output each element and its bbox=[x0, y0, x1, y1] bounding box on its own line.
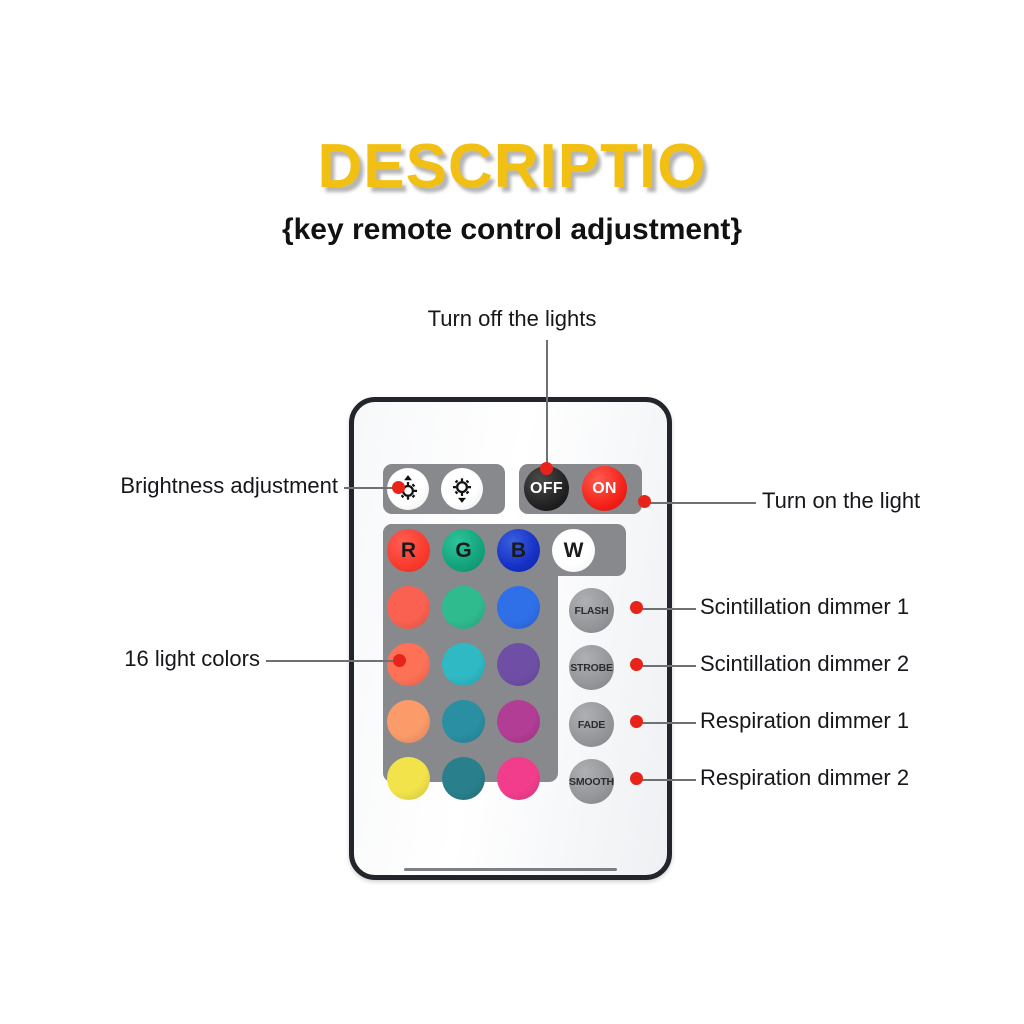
callout-respiration-dimmer-2: Respiration dimmer 2 bbox=[700, 765, 909, 791]
leader-line-brightness bbox=[344, 487, 399, 489]
callout-respiration-dimmer-1: Respiration dimmer 1 bbox=[700, 708, 909, 734]
color-swatch-r3-c2[interactable] bbox=[442, 700, 485, 743]
callout-brightness-adjustment: Brightness adjustment bbox=[0, 473, 338, 499]
callout-turn-off-lights: Turn off the lights bbox=[362, 306, 662, 332]
page-subtitle: {key remote control adjustment} bbox=[0, 213, 1024, 247]
blue-button-label: B bbox=[511, 540, 526, 561]
leader-line-colors bbox=[266, 660, 400, 662]
callout-dot-brightness bbox=[392, 481, 405, 494]
remote-bottom-seam bbox=[404, 868, 617, 871]
white-button[interactable]: W bbox=[552, 529, 595, 572]
smooth-button[interactable]: SMOOTH bbox=[569, 759, 614, 804]
green-button[interactable]: G bbox=[442, 529, 485, 572]
color-swatch-r3-c1[interactable] bbox=[387, 700, 430, 743]
callout-dot-strobe bbox=[630, 658, 643, 671]
infographic-canvas: DESCRIPTIO {key remote control adjustmen… bbox=[0, 0, 1024, 1024]
flash-button-label: FLASH bbox=[575, 605, 609, 617]
off-button-label: OFF bbox=[530, 481, 563, 497]
color-swatch-r4-c1[interactable] bbox=[387, 757, 430, 800]
color-swatch-r2-c3[interactable] bbox=[497, 643, 540, 686]
flash-button[interactable]: FLASH bbox=[569, 588, 614, 633]
sun-down-icon bbox=[447, 474, 477, 504]
color-swatch-r3-c3[interactable] bbox=[497, 700, 540, 743]
on-button[interactable]: ON bbox=[582, 466, 627, 511]
leader-line-strobe bbox=[640, 665, 696, 667]
red-button[interactable]: R bbox=[387, 529, 430, 572]
green-button-label: G bbox=[455, 540, 471, 561]
remote-control: OFF ON R G B W FLASH STROBE FADE bbox=[349, 397, 672, 880]
red-button-label: R bbox=[401, 540, 416, 561]
callout-scintillation-dimmer-2: Scintillation dimmer 2 bbox=[700, 651, 909, 677]
leader-line-fade bbox=[640, 722, 696, 724]
leader-line-smooth bbox=[640, 779, 696, 781]
callout-dot-16-colors bbox=[393, 654, 406, 667]
color-swatch-r2-c2[interactable] bbox=[442, 643, 485, 686]
callout-dot-fade bbox=[630, 715, 643, 728]
callout-dot-turn-off bbox=[540, 462, 553, 475]
callout-dot-turn-on bbox=[638, 495, 651, 508]
strobe-button-label: STROBE bbox=[570, 662, 613, 674]
color-swatch-r4-c2[interactable] bbox=[442, 757, 485, 800]
color-swatch-r1-c2[interactable] bbox=[442, 586, 485, 629]
leader-line-turn-on bbox=[648, 502, 756, 504]
page-title: DESCRIPTIO bbox=[0, 131, 1024, 202]
color-swatch-r1-c3[interactable] bbox=[497, 586, 540, 629]
color-swatch-r4-c3[interactable] bbox=[497, 757, 540, 800]
color-swatch-r1-c1[interactable] bbox=[387, 586, 430, 629]
callout-dot-flash bbox=[630, 601, 643, 614]
leader-line-turn-off bbox=[546, 340, 548, 468]
callout-turn-on-light: Turn on the light bbox=[762, 488, 920, 514]
white-button-label: W bbox=[564, 540, 584, 561]
callout-scintillation-dimmer-1: Scintillation dimmer 1 bbox=[700, 594, 909, 620]
strobe-button[interactable]: STROBE bbox=[569, 645, 614, 690]
blue-button[interactable]: B bbox=[497, 529, 540, 572]
callout-dot-smooth bbox=[630, 772, 643, 785]
fade-button[interactable]: FADE bbox=[569, 702, 614, 747]
callout-16-light-colors: 16 light colors bbox=[0, 646, 260, 672]
smooth-button-label: SMOOTH bbox=[569, 776, 614, 788]
fade-button-label: FADE bbox=[578, 719, 605, 731]
leader-line-flash bbox=[640, 608, 696, 610]
brightness-down-button[interactable] bbox=[441, 468, 483, 510]
on-button-label: ON bbox=[592, 481, 617, 497]
